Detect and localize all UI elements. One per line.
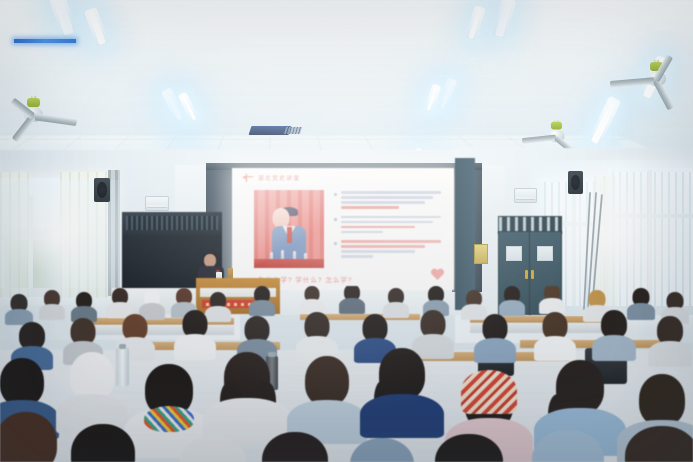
text-line-highlight bbox=[341, 245, 425, 248]
audience-member bbox=[300, 286, 324, 310]
shoulders bbox=[534, 336, 576, 361]
shoulders bbox=[648, 341, 692, 367]
speaker-portrait bbox=[254, 190, 324, 268]
audience-member bbox=[614, 426, 693, 462]
audience-member bbox=[340, 286, 364, 310]
shoulders bbox=[174, 334, 216, 360]
audience-member bbox=[250, 286, 274, 312]
audience-member bbox=[0, 412, 66, 462]
slide-bullet bbox=[334, 191, 446, 209]
audience-member bbox=[384, 288, 408, 314]
audience-member bbox=[538, 312, 572, 358]
wall-speaker bbox=[568, 171, 583, 194]
head bbox=[70, 352, 114, 400]
text-line bbox=[341, 221, 433, 224]
head bbox=[71, 424, 135, 462]
audience-member bbox=[108, 288, 132, 314]
slide-bullet bbox=[334, 240, 446, 258]
head bbox=[180, 436, 246, 462]
shoulders bbox=[39, 304, 65, 320]
audience-member bbox=[216, 352, 278, 440]
knit-beanie bbox=[461, 370, 517, 414]
hoodie-lining bbox=[144, 406, 194, 432]
audience-member-with-cap bbox=[140, 290, 164, 316]
head bbox=[0, 412, 57, 462]
head bbox=[435, 434, 503, 462]
audience-member bbox=[178, 310, 212, 356]
projector-vent bbox=[283, 127, 302, 134]
audience-member bbox=[596, 310, 632, 358]
seated-audience bbox=[0, 286, 693, 462]
party-emblem-icon bbox=[243, 173, 254, 183]
shoulders bbox=[339, 298, 365, 314]
text-line bbox=[341, 216, 441, 219]
text-line bbox=[341, 231, 383, 234]
air-conditioner-vent bbox=[145, 196, 169, 211]
text-line bbox=[341, 196, 433, 199]
slide-footer-text: 为什么学? 学什么? 怎么学? bbox=[258, 274, 428, 284]
door-vision-panel bbox=[537, 246, 553, 261]
wall-mounted-box bbox=[474, 244, 488, 264]
audience-member bbox=[372, 348, 432, 436]
head bbox=[0, 358, 44, 406]
air-conditioner-vent bbox=[514, 188, 537, 203]
head bbox=[262, 432, 328, 462]
wall-speaker bbox=[94, 178, 110, 202]
text-line-highlight bbox=[341, 226, 415, 229]
lecture-hall-photo: 湖北党史讲堂 bbox=[0, 0, 693, 462]
audience-member bbox=[340, 438, 424, 462]
ceiling-fan bbox=[542, 120, 569, 144]
head bbox=[625, 426, 693, 462]
head bbox=[532, 430, 604, 462]
audience-member bbox=[298, 356, 356, 440]
head bbox=[639, 374, 685, 426]
audience-member bbox=[300, 312, 334, 358]
text-line-highlight bbox=[341, 206, 399, 209]
shoulders bbox=[474, 338, 516, 363]
audience-member bbox=[252, 432, 338, 462]
audience-member bbox=[40, 290, 64, 316]
audience-member bbox=[478, 314, 512, 360]
text-line bbox=[341, 255, 373, 258]
audience-member bbox=[424, 434, 514, 462]
audience-member bbox=[500, 286, 524, 312]
shoulders bbox=[592, 335, 636, 361]
ceiling-fan bbox=[14, 96, 52, 130]
text-line bbox=[341, 250, 415, 253]
portrait-rostrum bbox=[254, 259, 324, 268]
portrait-head bbox=[272, 208, 289, 228]
head bbox=[305, 356, 349, 406]
audience-member bbox=[170, 436, 256, 462]
cabinet-grill bbox=[126, 216, 218, 230]
fan-mount-cap bbox=[550, 122, 561, 130]
audience-member bbox=[424, 286, 448, 312]
audience-member bbox=[64, 352, 120, 426]
audience-member bbox=[540, 286, 564, 310]
ceiling-fan bbox=[636, 60, 676, 96]
shoulders bbox=[360, 394, 444, 438]
projection-screen: 湖北党史讲堂 bbox=[232, 168, 454, 290]
portrait-tie bbox=[287, 227, 292, 243]
slide-bullet bbox=[334, 216, 446, 234]
shoulders bbox=[249, 300, 275, 316]
slide-title: 湖北党史讲堂 bbox=[258, 174, 301, 182]
door-handle[interactable] bbox=[525, 270, 528, 279]
audience-member bbox=[62, 424, 144, 462]
slide-header: 湖北党史讲堂 bbox=[243, 173, 301, 183]
head bbox=[350, 438, 414, 462]
audience-member bbox=[6, 294, 32, 320]
heart-graphic-icon bbox=[431, 268, 444, 280]
slide-body-text bbox=[334, 191, 446, 265]
audience-member bbox=[520, 430, 616, 462]
audience-member bbox=[72, 292, 96, 318]
text-line-highlight bbox=[341, 240, 441, 243]
text-line bbox=[341, 201, 425, 204]
audience-member bbox=[462, 290, 486, 316]
audience-member bbox=[652, 316, 688, 364]
text-line bbox=[341, 191, 441, 194]
led-display-strip bbox=[14, 39, 76, 43]
door-handle[interactable] bbox=[531, 270, 534, 279]
fan-mount-cap bbox=[27, 98, 40, 107]
door-vision-panel bbox=[506, 246, 522, 261]
